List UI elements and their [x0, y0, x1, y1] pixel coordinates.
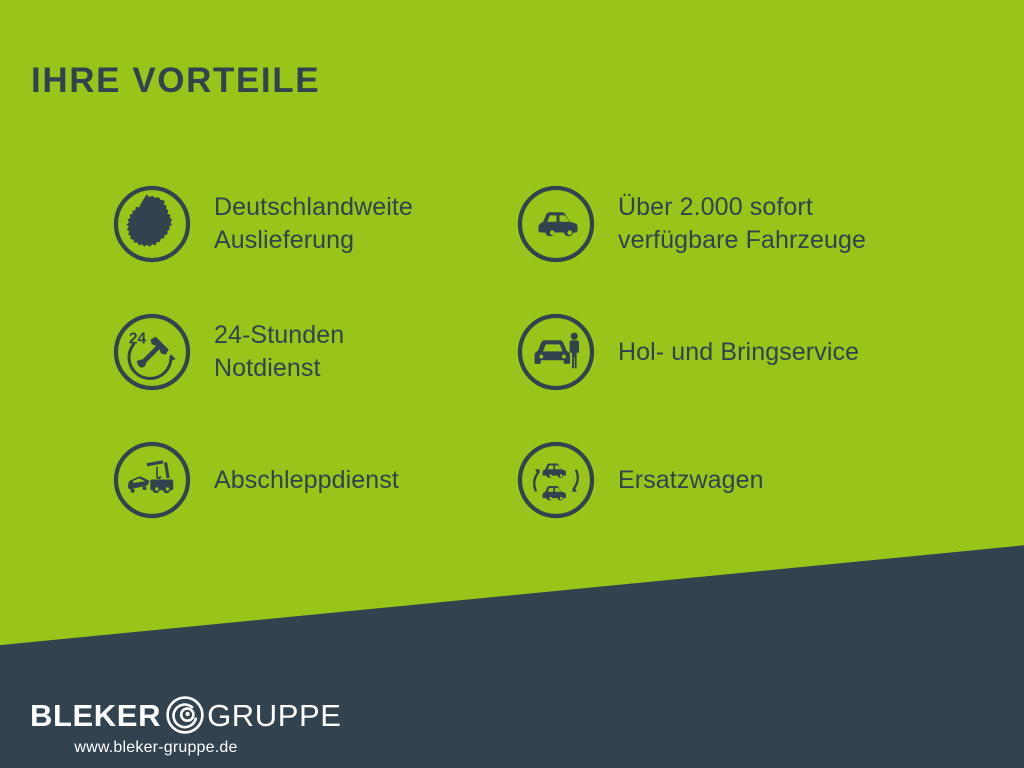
- germany-map-icon: [112, 184, 192, 264]
- footer-logo[interactable]: BLEKER GRUPPE www.bleker-gruppe.de: [30, 694, 330, 764]
- logo-website-url[interactable]: www.bleker-gruppe.de: [30, 739, 282, 757]
- benefits-grid: Deutschlandweite Auslieferung Über 2.000…: [112, 160, 992, 544]
- benefit-label: 24-Stunden Notdienst: [214, 319, 344, 385]
- spiral-circle-logo-icon: [165, 695, 205, 735]
- benefit-item-hol-und-bringservice: Hol- und Bringservice: [516, 288, 920, 416]
- tow-truck-icon: [112, 440, 192, 520]
- benefit-label: Hol- und Bringservice: [618, 336, 859, 369]
- benefit-item-verfuegbare-fahrzeuge: Über 2.000 sofort verfügbare Fahrzeuge: [516, 160, 920, 288]
- slide-root: IHRE VORTEILE Deutschlandweite Ausliefer…: [0, 0, 1024, 768]
- benefit-item-abschleppdienst: Abschleppdienst: [112, 416, 516, 544]
- logo-wordmark-bleker: BLEKER: [30, 700, 161, 731]
- logo-wordmark-gruppe: GRUPPE: [207, 700, 342, 731]
- benefit-item-ersatzwagen: Ersatzwagen: [516, 416, 920, 544]
- benefit-label: Über 2.000 sofort verfügbare Fahrzeuge: [618, 191, 866, 257]
- benefit-label: Deutschlandweite Auslieferung: [214, 191, 413, 257]
- benefit-item-deutschlandweite-auslieferung: Deutschlandweite Auslieferung: [112, 160, 516, 288]
- 24-hour-service-icon: 24: [112, 312, 192, 392]
- slide-content: IHRE VORTEILE Deutschlandweite Ausliefer…: [0, 0, 1024, 768]
- replacement-car-icon: [516, 440, 596, 520]
- benefit-label: Abschleppdienst: [214, 464, 399, 497]
- logo-row: BLEKER GRUPPE: [30, 694, 330, 736]
- benefit-item-24-stunden-notdienst: 24 24-Stunden Notdienst: [112, 288, 516, 416]
- page-title: IHRE VORTEILE: [31, 63, 320, 98]
- car-icon: [516, 184, 596, 264]
- benefit-label: Ersatzwagen: [618, 464, 764, 497]
- car-with-person-icon: [516, 312, 596, 392]
